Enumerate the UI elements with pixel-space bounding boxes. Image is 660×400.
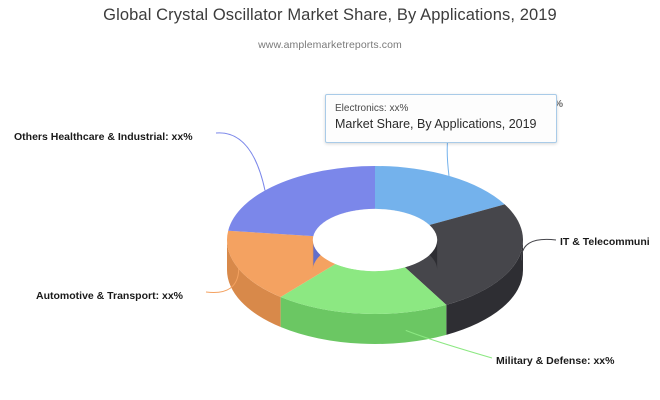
slice-label-it-telecommunication: IT & Telecommuni — [560, 236, 650, 248]
chart-canvas: Global Crystal Oscillator Market Share, … — [0, 0, 660, 400]
tooltip-series-title: Market Share, By Applications, 2019 — [335, 116, 547, 133]
slice-label-automotive-transport: Automotive & Transport: xx% — [36, 290, 183, 302]
chart-tooltip: Electronics: xx% Market Share, By Applic… — [325, 94, 557, 143]
donut-hole — [313, 209, 437, 271]
slice-label-others-healthcare-industrial: Others Healthcare & Industrial: xx% — [14, 131, 193, 143]
leader-line — [216, 133, 265, 191]
slice-label-military-defense: Military & Defense: xx% — [496, 355, 614, 367]
leader-line — [521, 239, 556, 260]
tooltip-series-value: Electronics: xx% — [335, 102, 547, 115]
donut-chart-graphic[interactable] — [0, 0, 660, 400]
